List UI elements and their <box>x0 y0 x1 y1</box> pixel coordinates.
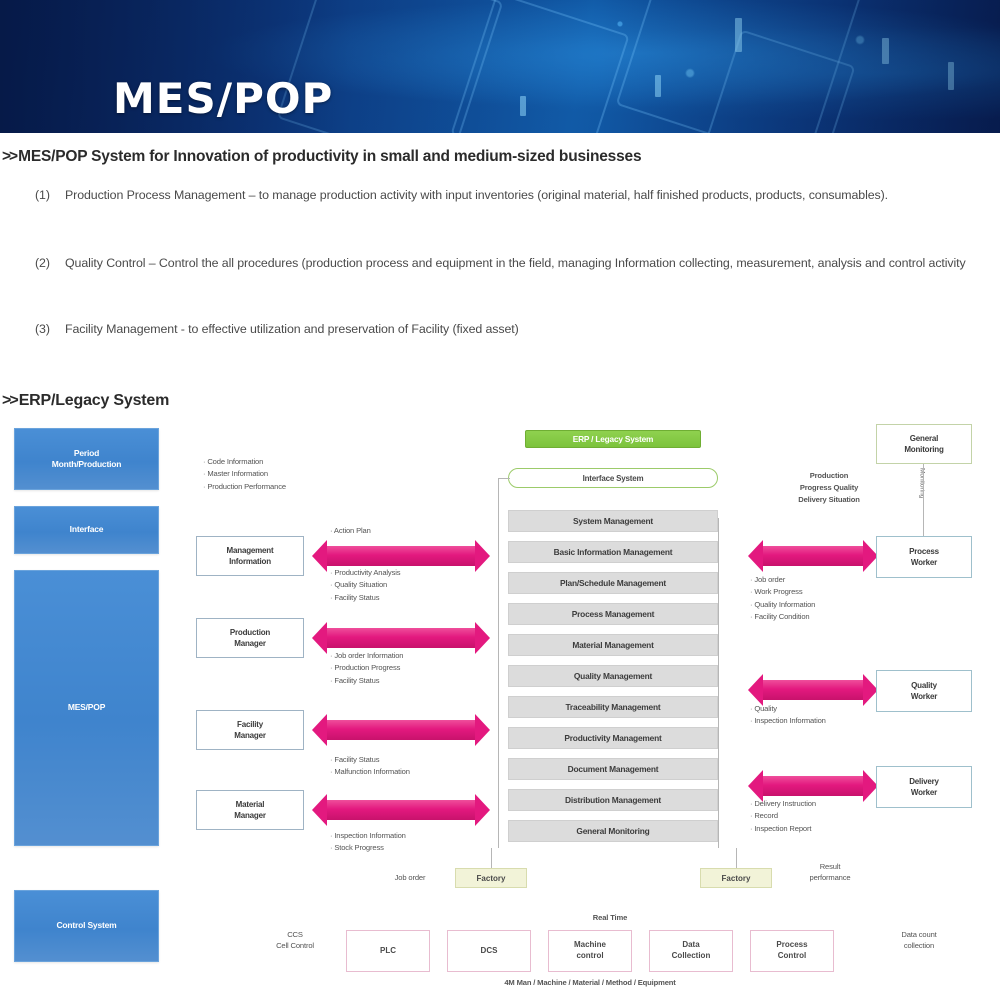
architecture-diagram: PeriodMonth/Production Interface MES/POP… <box>0 418 1000 1000</box>
section1-heading-text: MES/POP System for Innovation of product… <box>18 148 641 165</box>
diagram-box-management-information: ManagementInformation <box>196 536 304 576</box>
connector-line-genmon <box>923 464 924 536</box>
arrow-bidirectional-management <box>326 546 476 566</box>
diagram-box-general-monitoring: GeneralMonitoring <box>876 424 972 464</box>
bullet-item: Facility Status <box>330 675 495 687</box>
list-item: (1) Production Process Management – to m… <box>35 186 985 205</box>
diagram-box-control-system: Control System <box>14 890 159 962</box>
module-system-management: System Management <box>508 510 718 532</box>
bullet-item: Job order <box>750 574 900 586</box>
diagram-box-machine-control: Machinecontrol <box>548 930 632 972</box>
label-ccs-cell-control: CCSCell Control <box>256 930 334 951</box>
bullet-item: Delivery Instruction <box>750 798 900 810</box>
section2-heading-text: ERP/Legacy System <box>19 392 169 409</box>
bullet-item: Malfunction Information <box>330 766 495 778</box>
bullet-item: Quality Situation <box>330 579 495 591</box>
list-item-text: Facility Management - to effective utili… <box>65 320 985 339</box>
bullet-item: Production Performance <box>203 481 353 493</box>
diagram-box-interface-system: Interface System <box>508 468 718 488</box>
label-real-time: Real Time <box>570 913 650 924</box>
arrow-bidirectional-process-worker <box>762 546 864 566</box>
banner-title: MES/POP <box>113 78 333 120</box>
bullet-item: Inspection Information <box>750 715 900 727</box>
bullet-list-quality-worker: Quality Inspection Information <box>750 703 900 728</box>
chevron-right-icon: >> <box>2 148 16 165</box>
diagram-box-process-control: ProcessControl <box>750 930 834 972</box>
list-item-text: Production Process Management – to manag… <box>65 186 985 205</box>
bullet-item: Record <box>750 810 900 822</box>
label-job-order: Job order <box>377 873 443 884</box>
diagram-box-facility-manager: FacilityManager <box>196 710 304 750</box>
bullet-item: Production Progress <box>330 662 495 674</box>
bullet-item: Inspection Report <box>750 823 900 835</box>
connector-line-vertical <box>498 478 499 848</box>
connector-line-vertical-right <box>718 518 719 848</box>
list-item-number: (3) <box>35 320 50 339</box>
diagram-box-mespop: MES/POP <box>14 570 159 846</box>
diagram-box-process-worker: ProcessWorker <box>876 536 972 578</box>
module-process-management: Process Management <box>508 603 718 625</box>
section-heading-mespop: >>MES/POP System for Innovation of produ… <box>2 148 641 166</box>
bullet-item: Facility Status <box>330 592 495 604</box>
bullet-item: Master Information <box>203 468 353 480</box>
bullet-list-joborder: Job order Information Production Progres… <box>330 650 495 687</box>
diagram-box-dcs: DCS <box>447 930 531 972</box>
bullet-item: Stock Progress <box>330 842 495 854</box>
module-basic-information-management: Basic Information Management <box>508 541 718 563</box>
connector-line <box>498 478 510 479</box>
bullet-list-facility-status: Facility Status Malfunction Information <box>330 754 495 779</box>
bullet-item: Quality <box>750 703 900 715</box>
label-4m: 4M Man / Machine / Material / Method / E… <box>380 978 800 989</box>
bullet-item: Job order Information <box>330 650 495 662</box>
connector-line-factory1 <box>491 848 492 868</box>
bullet-item: Facility Status <box>330 754 495 766</box>
label-action-plan: · Action Plan <box>330 525 371 537</box>
module-material-management: Material Management <box>508 634 718 656</box>
arrow-bidirectional-quality-worker <box>762 680 864 700</box>
list-item-number: (2) <box>35 254 50 273</box>
bullet-list-delivery-worker: Delivery Instruction Record Inspection R… <box>750 798 900 835</box>
connector-line-factory2 <box>736 848 737 868</box>
arrow-bidirectional-material <box>326 800 476 820</box>
arrow-bidirectional-production <box>326 628 476 648</box>
header-banner: MES/POP <box>0 0 1000 133</box>
diagram-box-production-manager: ProductionManager <box>196 618 304 658</box>
chevron-right-icon: >> <box>2 392 17 409</box>
section-heading-erp: >>ERP/Legacy System <box>2 392 169 410</box>
diagram-box-period: PeriodMonth/Production <box>14 428 159 490</box>
bullet-item: Code Information <box>203 456 353 468</box>
list-item-number: (1) <box>35 186 50 205</box>
module-distribution-management: Distribution Management <box>508 789 718 811</box>
diagram-box-interface: Interface <box>14 506 159 554</box>
list-item-text: Quality Control – Control the all proced… <box>65 254 985 273</box>
arrow-bidirectional-facility <box>326 720 476 740</box>
bullet-item: Facility Condition <box>750 611 900 623</box>
diagram-box-factory-left: Factory <box>455 868 527 888</box>
diagram-box-material-manager: MaterialManager <box>196 790 304 830</box>
bullet-item: Quality Information <box>750 599 900 611</box>
label-production-status: ProductionProgress QualityDelivery Situa… <box>774 470 884 506</box>
module-plan-schedule-management: Plan/Schedule Management <box>508 572 718 594</box>
module-general-monitoring: General Monitoring <box>508 820 718 842</box>
module-traceability-management: Traceability Management <box>508 696 718 718</box>
diagram-box-factory-right: Factory <box>700 868 772 888</box>
diagram-box-data-collection: DataCollection <box>649 930 733 972</box>
bullet-item: Work Progress <box>750 586 900 598</box>
label-data-count-collection: Data countcollection <box>878 930 960 951</box>
bullet-item: Inspection Information <box>330 830 495 842</box>
label-result-performance: Resultperformance <box>790 862 870 883</box>
diagram-box-erp-legacy-system: ERP / Legacy System <box>525 430 701 448</box>
bullet-list-inspection: Inspection Information Stock Progress <box>330 830 495 855</box>
list-item: (2) Quality Control – Control the all pr… <box>35 254 985 273</box>
list-item: (3) Facility Management - to effective u… <box>35 320 985 339</box>
module-document-management: Document Management <box>508 758 718 780</box>
module-productivity-management: Productivity Management <box>508 727 718 749</box>
bullet-list-code-info: Code Information Master Information Prod… <box>203 456 353 493</box>
arrow-bidirectional-delivery-worker <box>762 776 864 796</box>
diagram-box-plc: PLC <box>346 930 430 972</box>
bullet-list-productivity: Productivity Analysis Quality Situation … <box>330 567 495 604</box>
bullet-item: Productivity Analysis <box>330 567 495 579</box>
label-monitoring-vertical: Monitoring <box>916 468 926 498</box>
module-quality-management: Quality Management <box>508 665 718 687</box>
bullet-list-process-worker: Job order Work Progress Quality Informat… <box>750 574 900 623</box>
